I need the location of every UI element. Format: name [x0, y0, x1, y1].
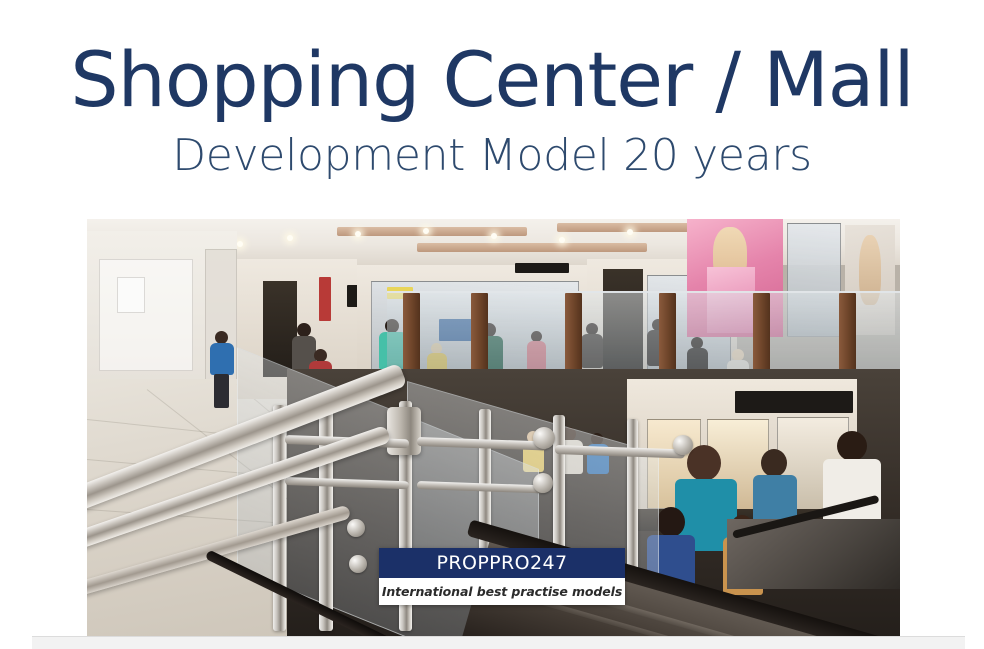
wall-panel: [99, 259, 193, 371]
ceiling-beam: [417, 243, 647, 252]
railing-fitting: [347, 519, 365, 537]
title-block: Shopping Center / Mall Development Model…: [0, 34, 984, 184]
shop-banner: [319, 277, 331, 321]
glass-balustrade: [387, 291, 900, 379]
ceiling-light: [423, 228, 429, 234]
logo-badge-top: PROPPRO247: [379, 548, 625, 578]
store-signage: [735, 391, 853, 413]
page-title: Shopping Center / Mall: [0, 34, 984, 126]
slide-canvas: Shopping Center / Mall Development Model…: [0, 0, 984, 648]
ceiling-light: [491, 233, 497, 239]
store-signage: [515, 263, 569, 273]
logo-tagline: International best practise models: [382, 585, 622, 598]
railing-fitting: [533, 427, 555, 449]
ceiling-light: [559, 237, 565, 243]
bottom-panel-strip: [32, 636, 965, 649]
railing-fitting: [673, 435, 693, 455]
railing-fitting: [349, 555, 367, 573]
ceiling-light: [355, 231, 361, 237]
logo-brand-name: PROPPRO247: [437, 554, 568, 573]
ceiling-light: [237, 241, 243, 247]
ceiling-light: [287, 235, 293, 241]
wall-poster: [117, 277, 145, 313]
logo-badge-bottom: International best practise models: [379, 578, 625, 605]
proppro247-logo-badge: PROPPRO247 International best practise m…: [379, 548, 625, 605]
page-subtitle: Development Model 20 years: [0, 128, 984, 184]
railing-fitting: [533, 473, 553, 493]
ceiling-beam: [337, 227, 527, 236]
ceiling-light: [627, 229, 633, 235]
